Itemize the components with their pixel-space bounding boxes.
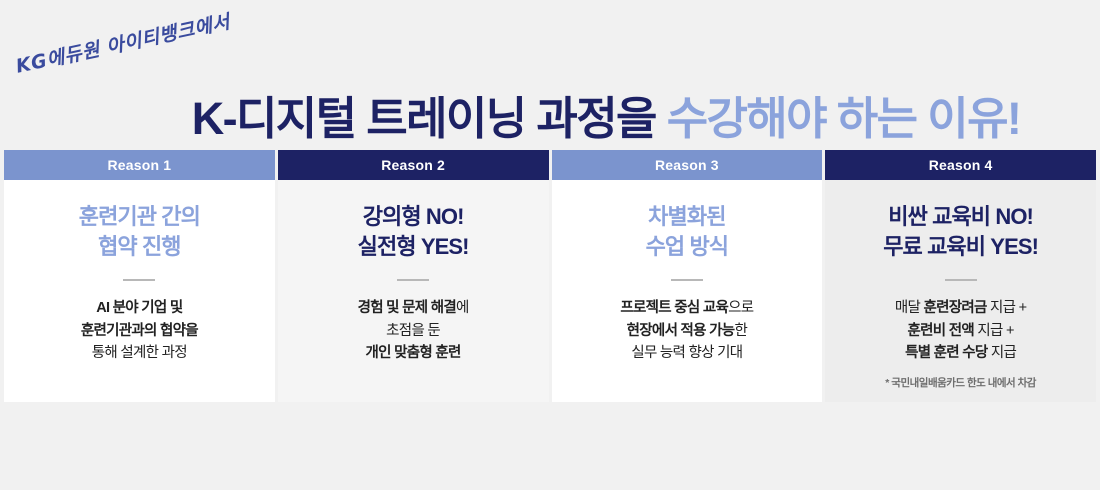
card-description-bold: 훈련장려금 [923, 300, 986, 316]
card-description-1: AI 분야 기업 및 훈련기관과의 협약을 통해 설계한 과정 [81, 297, 198, 364]
card-description-bold: 훈련비 전액 [908, 323, 975, 339]
reason-card-4[interactable]: Reason 4 비싼 교육비 NO! 무료 교육비 YES! 매달 훈련장려금… [825, 150, 1096, 402]
card-description-line: 훈련기관과의 협약을 [81, 320, 198, 342]
card-body-1: 훈련기관 간의 협약 진행 AI 분야 기업 및 훈련기관과의 협약을 통해 설… [4, 180, 275, 402]
card-description-bold: 특별 훈련 수당 [905, 345, 988, 361]
page-title-primary: K-디지털 트레이닝 과정을 [192, 93, 656, 144]
card-headline-4: 비싼 교육비 NO! 무료 교육비 YES! [883, 202, 1038, 261]
reason-card-2[interactable]: Reason 2 강의형 NO! 실전형 YES! 경험 및 문제 해결에 초점… [278, 150, 549, 402]
card-description-regular: 한 [734, 323, 747, 339]
brand-script-tag: KG에듀원 아이티뱅크에서 [13, 7, 232, 79]
card-description-line: 매달 훈련장려금 지급 + [895, 297, 1027, 319]
card-description-bold: 현장에서 적용 가능 [627, 323, 735, 339]
card-description-2: 경험 및 문제 해결에 초점을 둔 개인 맞춤형 훈련 [358, 297, 469, 364]
card-description-line: 특별 훈련 수당 지급 [895, 342, 1027, 364]
card-divider-1 [123, 279, 155, 281]
card-description-regular: 에 [456, 300, 469, 316]
card-description-regular: 초점을 둔 [386, 323, 440, 339]
card-description-line: 개인 맞춤형 훈련 [358, 342, 469, 364]
card-description-regular: 지급 + [987, 300, 1027, 316]
card-description-bold: 경험 및 문제 해결 [358, 300, 456, 316]
card-description-regular: 지급 [988, 345, 1017, 361]
card-headline-1: 훈련기관 간의 협약 진행 [79, 202, 200, 261]
card-description-line: AI 분야 기업 및 [81, 297, 198, 319]
card-headline-2: 강의형 NO! 실전형 YES! [358, 202, 469, 261]
card-description-line: 훈련비 전액 지급 + [895, 320, 1027, 342]
card-divider-3 [671, 279, 703, 281]
card-description-prefix: 매달 [895, 300, 924, 316]
card-description-line: 경험 및 문제 해결에 [358, 297, 469, 319]
page-title: K-디지털 트레이닝 과정을 수강해야 하는 이유! [0, 96, 1100, 141]
card-header-label-4: Reason 4 [825, 150, 1096, 180]
card-description-line: 프로젝트 중심 교육으로 [620, 297, 753, 319]
card-description-regular: 통해 설계한 과정 [92, 345, 187, 361]
card-header-label-2: Reason 2 [278, 150, 549, 180]
card-footnote-4: * 국민내일배움카드 한도 내에서 차감 [885, 375, 1036, 390]
card-body-2: 강의형 NO! 실전형 YES! 경험 및 문제 해결에 초점을 둔 개인 맞춤… [278, 180, 549, 402]
card-description-line: 초점을 둔 [358, 320, 469, 342]
card-description-line: 실무 능력 향상 기대 [620, 342, 753, 364]
card-header-label-1: Reason 1 [4, 150, 275, 180]
card-body-4: 비싼 교육비 NO! 무료 교육비 YES! 매달 훈련장려금 지급 + 훈련비… [825, 180, 1096, 402]
card-description-line: 현장에서 적용 가능한 [620, 320, 753, 342]
card-header-label-3: Reason 3 [552, 150, 823, 180]
reason-card-list: Reason 1 훈련기관 간의 협약 진행 AI 분야 기업 및 훈련기관과의… [4, 150, 1096, 402]
reason-card-1[interactable]: Reason 1 훈련기관 간의 협약 진행 AI 분야 기업 및 훈련기관과의… [4, 150, 275, 402]
card-description-4: 매달 훈련장려금 지급 + 훈련비 전액 지급 + 특별 훈련 수당 지급 [895, 297, 1027, 364]
card-description-regular: 지급 + [974, 323, 1014, 339]
card-description-bold: 프로젝트 중심 교육 [620, 300, 728, 316]
card-description-regular: 실무 능력 향상 기대 [631, 345, 742, 361]
card-description-regular: 으로 [728, 300, 753, 316]
card-description-3: 프로젝트 중심 교육으로 현장에서 적용 가능한 실무 능력 향상 기대 [620, 297, 753, 364]
reason-card-3[interactable]: Reason 3 차별화된 수업 방식 프로젝트 중심 교육으로 현장에서 적용… [552, 150, 823, 402]
card-divider-2 [397, 279, 429, 281]
card-description-line: 통해 설계한 과정 [81, 342, 198, 364]
card-description-bold: 개인 맞춤형 훈련 [366, 345, 461, 361]
card-description-bold: 훈련기관과의 협약을 [81, 323, 198, 339]
card-divider-4 [945, 279, 977, 281]
card-body-3: 차별화된 수업 방식 프로젝트 중심 교육으로 현장에서 적용 가능한 실무 능… [552, 180, 823, 402]
card-headline-3: 차별화된 수업 방식 [646, 202, 729, 261]
page-title-accent: 수강해야 하는 이유! [667, 93, 1021, 144]
card-description-bold: AI 분야 기업 및 [96, 300, 182, 316]
hero-banner: KG에듀원 아이티뱅크에서 K-디지털 트레이닝 과정을 수강해야 하는 이유! [0, 0, 1100, 148]
